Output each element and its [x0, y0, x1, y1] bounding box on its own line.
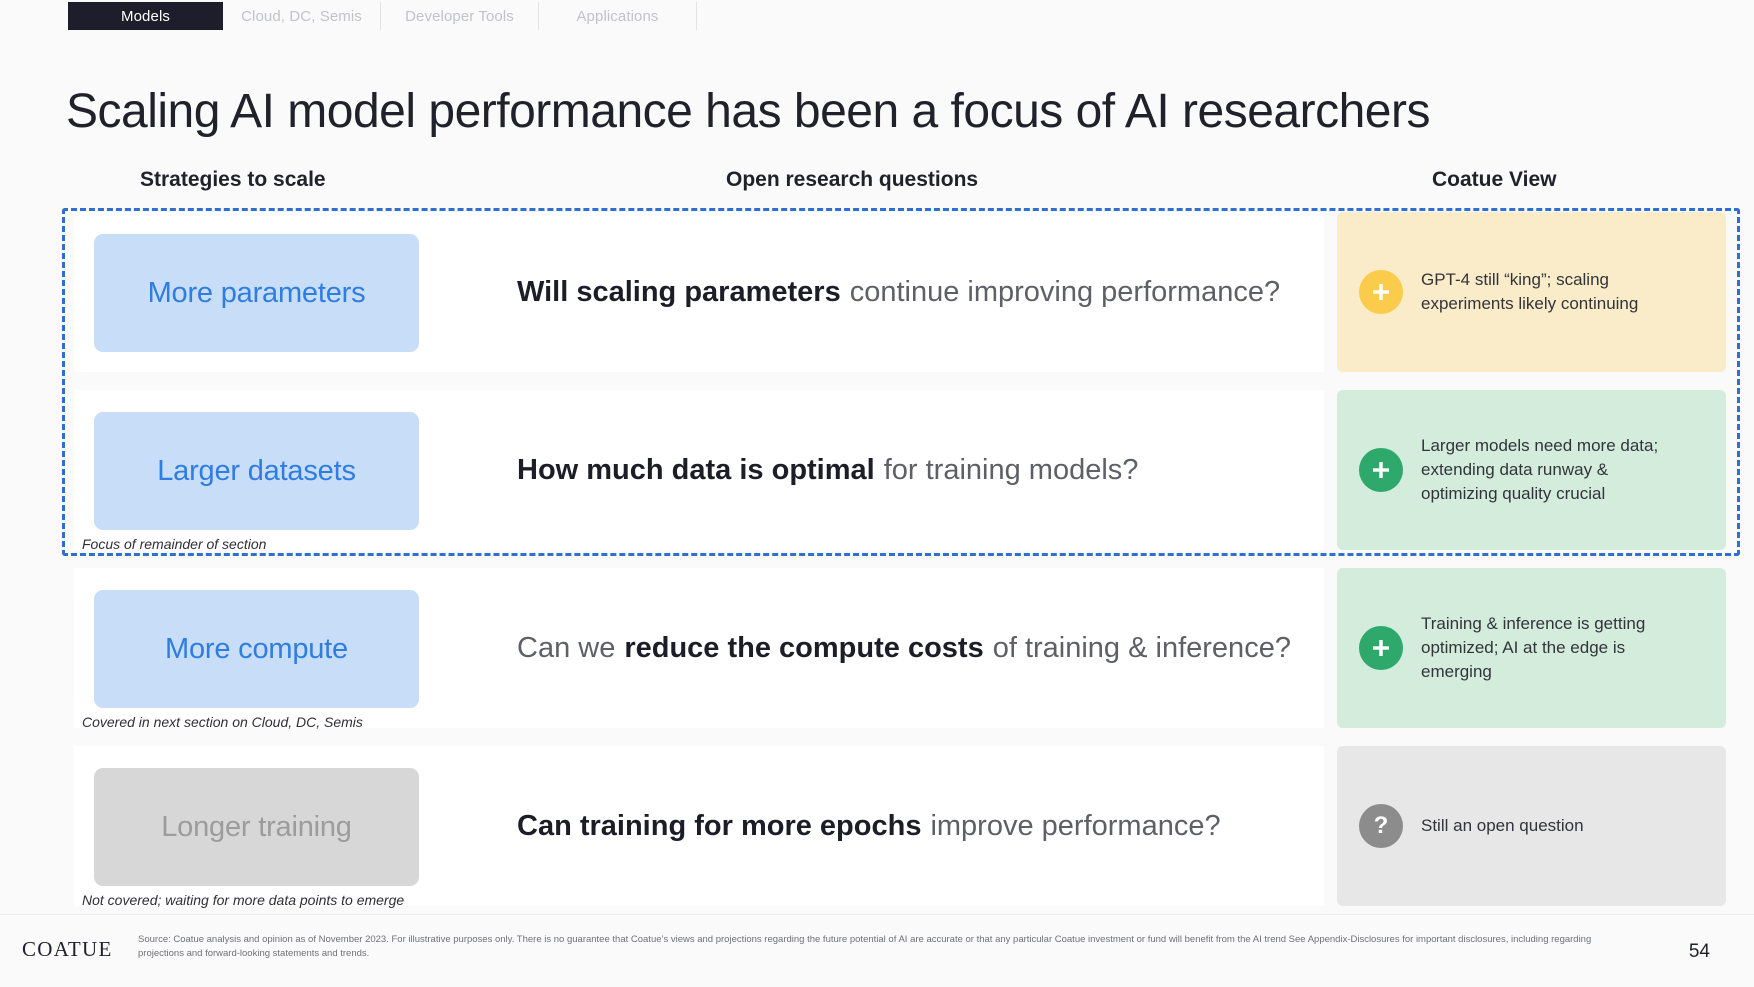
research-question: Will scaling parameters continue improvi… — [517, 212, 1280, 372]
question-remainder: of training & inference? — [993, 632, 1291, 665]
coatue-view-text: Larger models need more data; extending … — [1421, 434, 1683, 506]
strategy-pill-label: More parameters — [148, 277, 366, 310]
strategy-pill-more-compute[interactable]: More compute — [94, 590, 419, 708]
strategy-footnote: Covered in next section on Cloud, DC, Se… — [82, 714, 363, 730]
strategy-footnote: Focus of remainder of section — [82, 536, 266, 552]
question-remainder: improve performance? — [930, 810, 1220, 843]
nav-tab-cloud-dc-semis[interactable]: Cloud, DC, Semis — [223, 2, 381, 30]
question-emphasis: reduce the compute costs — [624, 632, 983, 665]
coatue-view-text: Training & inference is getting optimize… — [1421, 612, 1683, 684]
coatue-view-card: ? Still an open question — [1337, 746, 1726, 906]
question-prefix: Can we — [517, 632, 615, 665]
strategy-pill-larger-datasets[interactable]: Larger datasets — [94, 412, 419, 530]
question-remainder: for training models? — [884, 454, 1139, 487]
section-nav: Models Cloud, DC, Semis Developer Tools … — [68, 2, 697, 30]
plus-icon — [1359, 626, 1403, 670]
column-header-coatue-view: Coatue View — [1432, 168, 1556, 192]
table-row: More compute Covered in next section on … — [62, 568, 1742, 728]
page-title: Scaling AI model performance has been a … — [66, 84, 1430, 139]
nav-tab-label: Cloud, DC, Semis — [241, 8, 362, 25]
strategy-pill-label: Longer training — [161, 811, 351, 844]
question-emphasis: Will scaling parameters — [517, 276, 841, 309]
question-mark-icon: ? — [1359, 804, 1403, 848]
nav-tab-label: Developer Tools — [405, 8, 514, 25]
nav-tab-applications[interactable]: Applications — [539, 2, 697, 30]
slide-canvas: Models Cloud, DC, Semis Developer Tools … — [0, 0, 1754, 987]
question-remainder: continue improving performance? — [850, 276, 1280, 309]
nav-tab-developer-tools[interactable]: Developer Tools — [381, 2, 539, 30]
coatue-view-card: Larger models need more data; extending … — [1337, 390, 1726, 550]
coatue-view-text: GPT-4 still “king”; scaling experiments … — [1421, 268, 1683, 316]
strategy-footnote: Not covered; waiting for more data point… — [82, 892, 404, 908]
page-number: 54 — [1689, 941, 1710, 963]
coatue-logo: COATUE — [22, 937, 113, 962]
strategy-pill-longer-training[interactable]: Longer training — [94, 768, 419, 886]
column-headers: Strategies to scale Open research questi… — [62, 168, 1722, 198]
strategy-matrix: More parameters Will scaling parameters … — [62, 212, 1742, 924]
nav-tab-label: Models — [121, 8, 170, 25]
table-row: Longer training Not covered; waiting for… — [62, 746, 1742, 906]
coatue-view-text: Still an open question — [1421, 814, 1584, 838]
nav-tab-label: Applications — [576, 8, 658, 25]
question-emphasis: How much data is optimal — [517, 454, 875, 487]
table-row: More parameters Will scaling parameters … — [62, 212, 1742, 372]
plus-icon — [1359, 270, 1403, 314]
research-question: Can training for more epochs improve per… — [517, 746, 1221, 906]
research-question: How much data is optimal for training mo… — [517, 390, 1138, 550]
nav-tab-models[interactable]: Models — [68, 2, 223, 30]
slide-footer: COATUE Source: Coatue analysis and opini… — [0, 914, 1754, 987]
research-question: Can we reduce the compute costs of train… — [517, 568, 1291, 728]
plus-icon — [1359, 448, 1403, 492]
column-header-strategies: Strategies to scale — [140, 168, 326, 192]
column-header-questions: Open research questions — [726, 168, 978, 192]
strategy-pill-label: More compute — [165, 633, 348, 666]
strategy-pill-more-parameters[interactable]: More parameters — [94, 234, 419, 352]
coatue-view-card: Training & inference is getting optimize… — [1337, 568, 1726, 728]
source-note: Source: Coatue analysis and opinion as o… — [138, 933, 1628, 961]
question-emphasis: Can training for more epochs — [517, 810, 921, 843]
coatue-view-card: GPT-4 still “king”; scaling experiments … — [1337, 212, 1726, 372]
strategy-pill-label: Larger datasets — [157, 455, 356, 488]
table-row: Larger datasets Focus of remainder of se… — [62, 390, 1742, 550]
